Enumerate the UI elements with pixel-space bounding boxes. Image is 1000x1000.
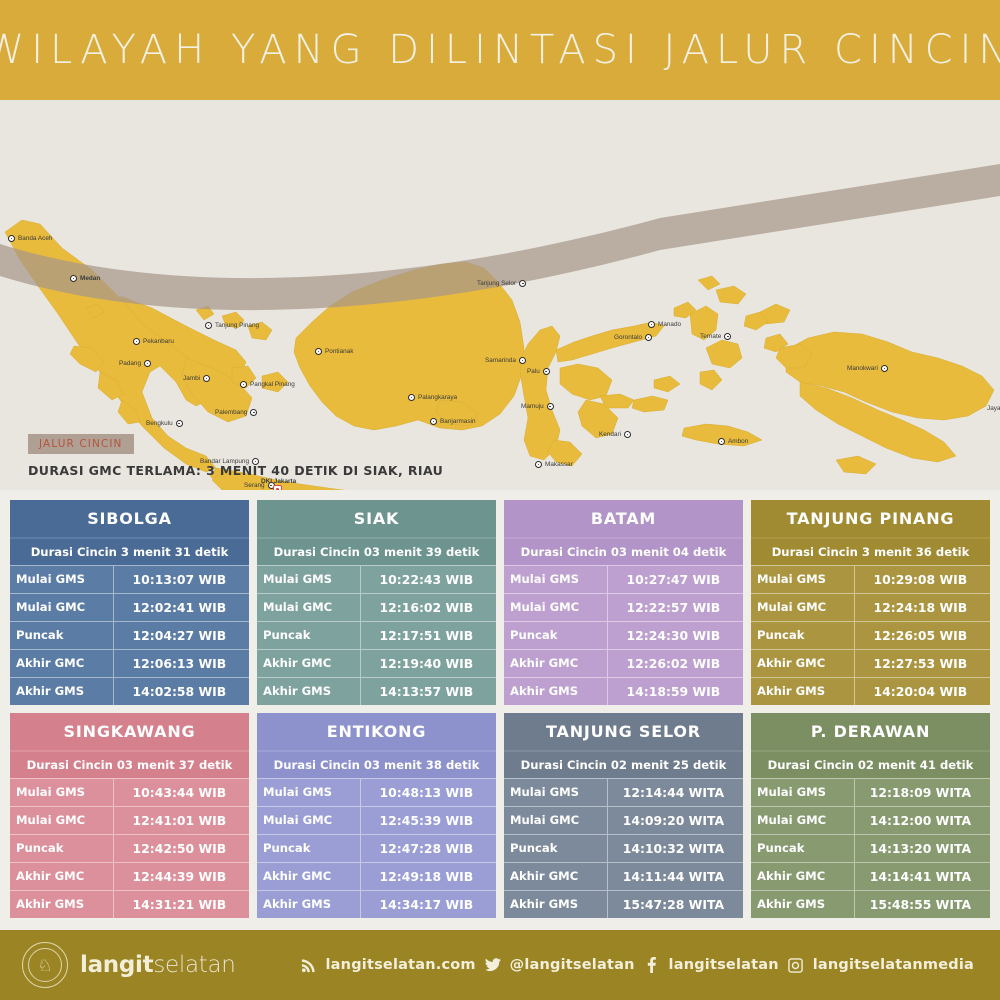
map-city-marker: Manado bbox=[648, 321, 681, 328]
city-label: Pangkal Pinang bbox=[250, 381, 295, 388]
card-row-label: Mulai GMS bbox=[504, 566, 607, 593]
card-row-label: Mulai GMS bbox=[10, 779, 113, 806]
map-city-marker: Banjarmasin bbox=[430, 418, 476, 425]
twitter-icon bbox=[484, 956, 502, 974]
social-label: langitselatan bbox=[669, 957, 779, 973]
card-row-label: Akhir GMC bbox=[10, 650, 113, 677]
card-row-time: 12:47:28 WIB bbox=[360, 835, 496, 862]
city-label: Pontianak bbox=[325, 348, 353, 355]
timing-card: TANJUNG SELORDurasi Cincin 02 menit 25 d… bbox=[504, 713, 743, 918]
city-label: Kendari bbox=[599, 431, 621, 438]
card-row-label: Mulai GMC bbox=[504, 807, 607, 834]
card-row-time: 14:18:59 WIB bbox=[607, 678, 743, 705]
card-duration: Durasi Cincin 03 menit 39 detik bbox=[257, 537, 496, 565]
city-dot-icon bbox=[547, 403, 554, 410]
card-row-time: 14:31:21 WIB bbox=[113, 891, 249, 918]
brand-bold-text: langit bbox=[80, 952, 153, 978]
timing-card: SIBOLGADurasi Cincin 3 menit 31 detikMul… bbox=[10, 500, 249, 705]
card-row: Akhir GMS14:18:59 WIB bbox=[504, 677, 743, 705]
city-dot-icon bbox=[881, 365, 888, 372]
facebook-icon bbox=[643, 956, 661, 974]
map-city-marker: Pangkal Pinang bbox=[240, 381, 295, 388]
card-row-label: Akhir GMS bbox=[10, 891, 113, 918]
card-row: Akhir GMS15:48:55 WITA bbox=[751, 890, 990, 918]
card-row-time: 14:09:20 WITA bbox=[607, 807, 743, 834]
city-label: DKI Jakarta bbox=[261, 478, 296, 485]
card-row: Puncak14:10:32 WITA bbox=[504, 834, 743, 862]
map-city-marker: Jambi bbox=[183, 375, 210, 382]
card-row-time: 14:14:41 WITA bbox=[854, 863, 990, 890]
map-caption: DURASI GMC TERLAMA: 3 MENIT 40 DETIK DI … bbox=[28, 463, 443, 478]
card-row-time: 12:18:09 WITA bbox=[854, 779, 990, 806]
seal-inner-emblem: ♘ bbox=[28, 948, 62, 982]
card-duration: Durasi Cincin 3 menit 36 detik bbox=[751, 537, 990, 565]
card-row: Puncak12:26:05 WIB bbox=[751, 621, 990, 649]
map-city-marker: Padang bbox=[119, 360, 151, 367]
card-row-time: 10:48:13 WIB bbox=[360, 779, 496, 806]
card-row: Akhir GMC12:26:02 WIB bbox=[504, 649, 743, 677]
card-title: TANJUNG PINANG bbox=[751, 500, 990, 537]
card-title: SIBOLGA bbox=[10, 500, 249, 537]
card-row: Mulai GMS10:43:44 WIB bbox=[10, 778, 249, 806]
social-link[interactable]: langitselatan bbox=[643, 956, 779, 974]
card-row: Akhir GMS14:13:57 WIB bbox=[257, 677, 496, 705]
card-row-label: Puncak bbox=[504, 622, 607, 649]
city-dot-icon bbox=[176, 420, 183, 427]
timing-card: SIAKDurasi Cincin 03 menit 39 detikMulai… bbox=[257, 500, 496, 705]
card-row-label: Puncak bbox=[10, 835, 113, 862]
city-label: Tanjung Selor bbox=[477, 280, 516, 287]
map-panel: Banda AcehMedanTanjung PinangPekanbaruPa… bbox=[0, 100, 1000, 490]
card-row: Mulai GMS10:22:43 WIB bbox=[257, 565, 496, 593]
city-label: Mamuju bbox=[521, 403, 544, 410]
card-row: Mulai GMC14:09:20 WITA bbox=[504, 806, 743, 834]
city-label: Palangkaraya bbox=[418, 394, 457, 401]
card-row-time: 12:04:27 WIB bbox=[113, 622, 249, 649]
map-city-marker: Gorontalo bbox=[614, 334, 652, 341]
card-row: Puncak14:13:20 WITA bbox=[751, 834, 990, 862]
card-row: Mulai GMC12:41:01 WIB bbox=[10, 806, 249, 834]
map-city-marker: Palangkaraya bbox=[408, 394, 457, 401]
card-row-time: 12:26:05 WIB bbox=[854, 622, 990, 649]
map-city-marker: Medan bbox=[70, 275, 100, 282]
card-row: Puncak12:42:50 WIB bbox=[10, 834, 249, 862]
card-row-time: 12:49:18 WIB bbox=[360, 863, 496, 890]
city-label: Manado bbox=[658, 321, 681, 328]
card-duration: Durasi Cincin 02 menit 25 detik bbox=[504, 750, 743, 778]
card-row-time: 12:44:39 WIB bbox=[113, 863, 249, 890]
card-row: Akhir GMC12:49:18 WIB bbox=[257, 862, 496, 890]
city-dot-icon bbox=[648, 321, 655, 328]
card-row: Mulai GMC14:12:00 WITA bbox=[751, 806, 990, 834]
card-row-time: 15:47:28 WITA bbox=[607, 891, 743, 918]
city-label: Ambon bbox=[728, 438, 748, 445]
card-duration: Durasi Cincin 3 menit 31 detik bbox=[10, 537, 249, 565]
card-row-label: Mulai GMC bbox=[10, 594, 113, 621]
card-row: Mulai GMS10:27:47 WIB bbox=[504, 565, 743, 593]
indonesia-map bbox=[0, 100, 1000, 490]
langitselatan-seal-icon: ♘ bbox=[22, 942, 68, 988]
card-row-time: 12:27:53 WIB bbox=[854, 650, 990, 677]
city-timing-cards: SIBOLGADurasi Cincin 3 menit 31 detikMul… bbox=[0, 490, 1000, 918]
card-row-label: Akhir GMS bbox=[257, 678, 360, 705]
social-label: langitselatan.com bbox=[326, 957, 476, 973]
card-row-label: Mulai GMS bbox=[751, 779, 854, 806]
card-row-label: Mulai GMC bbox=[751, 807, 854, 834]
map-city-marker: Samarinda bbox=[485, 357, 526, 364]
card-row-label: Puncak bbox=[504, 835, 607, 862]
timing-card: BATAMDurasi Cincin 03 menit 04 detikMula… bbox=[504, 500, 743, 705]
card-row: Akhir GMC12:27:53 WIB bbox=[751, 649, 990, 677]
card-row-time: 10:27:47 WIB bbox=[607, 566, 743, 593]
city-label: Tanjung Pinang bbox=[215, 322, 259, 329]
map-city-marker: Palu bbox=[527, 368, 550, 375]
card-row: Mulai GMC12:45:39 WIB bbox=[257, 806, 496, 834]
card-row: Akhir GMC12:19:40 WIB bbox=[257, 649, 496, 677]
card-title: SIAK bbox=[257, 500, 496, 537]
card-row-label: Akhir GMC bbox=[504, 863, 607, 890]
card-row-label: Akhir GMC bbox=[751, 650, 854, 677]
card-row: Akhir GMC14:14:41 WITA bbox=[751, 862, 990, 890]
city-label: Padang bbox=[119, 360, 141, 367]
timing-card: SINGKAWANGDurasi Cincin 03 menit 37 deti… bbox=[10, 713, 249, 918]
card-row-label: Mulai GMC bbox=[257, 594, 360, 621]
card-row-label: Mulai GMC bbox=[257, 807, 360, 834]
city-label: Palembang bbox=[215, 409, 247, 416]
card-duration: Durasi Cincin 03 menit 38 detik bbox=[257, 750, 496, 778]
card-row-time: 10:22:43 WIB bbox=[360, 566, 496, 593]
rss-icon bbox=[300, 956, 318, 974]
card-row-time: 12:06:13 WIB bbox=[113, 650, 249, 677]
city-dot-icon bbox=[205, 322, 212, 329]
card-row-time: 15:48:55 WITA bbox=[854, 891, 990, 918]
map-city-marker: Tanjung Selor bbox=[477, 280, 526, 287]
city-dot-icon bbox=[203, 375, 210, 382]
card-row-time: 12:42:50 WIB bbox=[113, 835, 249, 862]
city-label: Jambi bbox=[183, 375, 200, 382]
legend-jalur-cincin: JALUR CINCIN bbox=[28, 434, 134, 454]
card-row-label: Puncak bbox=[10, 622, 113, 649]
map-city-marker: DKI Jakarta bbox=[258, 478, 296, 490]
city-label: Banjarmasin bbox=[440, 418, 476, 425]
social-label: @langitselatan bbox=[510, 957, 635, 973]
city-dot-icon bbox=[519, 280, 526, 287]
card-row-time: 12:24:18 WIB bbox=[854, 594, 990, 621]
card-row: Mulai GMC12:02:41 WIB bbox=[10, 593, 249, 621]
city-label: Jayapura bbox=[987, 405, 1000, 412]
card-row-time: 14:13:57 WIB bbox=[360, 678, 496, 705]
card-row-label: Mulai GMS bbox=[257, 566, 360, 593]
card-title: BATAM bbox=[504, 500, 743, 537]
card-row-label: Puncak bbox=[257, 622, 360, 649]
card-row: Mulai GMC12:16:02 WIB bbox=[257, 593, 496, 621]
card-row-time: 12:02:41 WIB bbox=[113, 594, 249, 621]
city-label: Bengkulu bbox=[146, 420, 173, 427]
card-row-label: Akhir GMS bbox=[504, 891, 607, 918]
card-row: Mulai GMC12:24:18 WIB bbox=[751, 593, 990, 621]
card-row-time: 12:41:01 WIB bbox=[113, 807, 249, 834]
city-dot-icon bbox=[645, 334, 652, 341]
card-row-label: Puncak bbox=[751, 835, 854, 862]
card-row: Puncak12:04:27 WIB bbox=[10, 621, 249, 649]
city-dot-icon bbox=[543, 368, 550, 375]
card-row-time: 10:43:44 WIB bbox=[113, 779, 249, 806]
card-row-time: 12:16:02 WIB bbox=[360, 594, 496, 621]
card-row: Akhir GMC14:11:44 WITA bbox=[504, 862, 743, 890]
card-duration: Durasi Cincin 02 menit 41 detik bbox=[751, 750, 990, 778]
city-label: Palu bbox=[527, 368, 540, 375]
card-row-time: 14:20:04 WIB bbox=[854, 678, 990, 705]
card-row: Mulai GMS12:18:09 WITA bbox=[751, 778, 990, 806]
card-row-time: 12:22:57 WIB bbox=[607, 594, 743, 621]
card-row: Akhir GMC12:06:13 WIB bbox=[10, 649, 249, 677]
social-link[interactable]: @langitselatan bbox=[484, 956, 635, 974]
map-city-marker: Kendari bbox=[599, 431, 631, 438]
card-title: TANJUNG SELOR bbox=[504, 713, 743, 750]
city-dot-icon bbox=[519, 357, 526, 364]
social-link[interactable]: langitselatan.com bbox=[300, 956, 476, 974]
map-legend: JALUR CINCIN DURASI GMC TERLAMA: 3 MENIT… bbox=[28, 434, 443, 478]
social-label: langitselatanmedia bbox=[813, 957, 974, 973]
city-label: Ternate bbox=[700, 333, 721, 340]
card-row-label: Akhir GMS bbox=[504, 678, 607, 705]
city-dot-icon bbox=[144, 360, 151, 367]
city-label: Samarinda bbox=[485, 357, 516, 364]
card-row: Akhir GMS14:20:04 WIB bbox=[751, 677, 990, 705]
map-city-marker: Jayapura bbox=[987, 405, 1000, 412]
card-row: Mulai GMC12:22:57 WIB bbox=[504, 593, 743, 621]
map-city-marker: Bengkulu bbox=[146, 420, 183, 427]
card-title: ENTIKONG bbox=[257, 713, 496, 750]
title-bar: WILAYAH YANG DILINTASI JALUR CINCIN bbox=[0, 0, 1000, 100]
city-label: Gorontalo bbox=[614, 334, 642, 341]
social-links: langitselatan.com@langitselatanlangitsel… bbox=[236, 956, 978, 974]
city-label: Manokwari bbox=[847, 365, 878, 372]
social-link[interactable]: langitselatanmedia bbox=[787, 956, 974, 974]
city-label: Makassar bbox=[545, 461, 573, 468]
city-dot-icon bbox=[724, 333, 731, 340]
card-row: Mulai GMS10:48:13 WIB bbox=[257, 778, 496, 806]
card-title: SINGKAWANG bbox=[10, 713, 249, 750]
card-row-time: 12:17:51 WIB bbox=[360, 622, 496, 649]
card-duration: Durasi Cincin 03 menit 37 detik bbox=[10, 750, 249, 778]
card-row-label: Akhir GMC bbox=[257, 863, 360, 890]
card-row-time: 14:12:00 WITA bbox=[854, 807, 990, 834]
instagram-icon bbox=[787, 956, 805, 974]
card-row-time: 14:10:32 WITA bbox=[607, 835, 743, 862]
card-row-time: 12:45:39 WIB bbox=[360, 807, 496, 834]
city-dot-icon bbox=[624, 431, 631, 438]
card-row-label: Puncak bbox=[751, 622, 854, 649]
card-row: Akhir GMC12:44:39 WIB bbox=[10, 862, 249, 890]
card-row-label: Akhir GMS bbox=[751, 891, 854, 918]
footer: ♘ langitselatan langitselatan.com@langit… bbox=[0, 930, 1000, 1000]
card-row-label: Akhir GMS bbox=[751, 678, 854, 705]
city-dot-icon bbox=[408, 394, 415, 401]
card-row-label: Akhir GMS bbox=[10, 678, 113, 705]
map-city-marker: Pekanbaru bbox=[133, 338, 174, 345]
card-row-label: Akhir GMC bbox=[751, 863, 854, 890]
city-label: Banda Aceh bbox=[18, 235, 52, 242]
card-row: Mulai GMS12:14:44 WITA bbox=[504, 778, 743, 806]
card-row-time: 12:24:30 WIB bbox=[607, 622, 743, 649]
card-row-time: 10:29:08 WIB bbox=[854, 566, 990, 593]
map-city-marker: Makassar bbox=[535, 461, 573, 468]
card-row-label: Mulai GMS bbox=[751, 566, 854, 593]
card-row: Akhir GMS14:31:21 WIB bbox=[10, 890, 249, 918]
city-dot-icon bbox=[8, 235, 15, 242]
card-row-label: Mulai GMC bbox=[504, 594, 607, 621]
map-city-marker: Ternate bbox=[700, 333, 731, 340]
card-title: P. DERAWAN bbox=[751, 713, 990, 750]
card-row: Mulai GMS10:29:08 WIB bbox=[751, 565, 990, 593]
timing-card: P. DERAWANDurasi Cincin 02 menit 41 deti… bbox=[751, 713, 990, 918]
page-title: WILAYAH YANG DILINTASI JALUR CINCIN bbox=[0, 27, 1000, 73]
card-row-label: Mulai GMC bbox=[751, 594, 854, 621]
card-row-time: 10:13:07 WIB bbox=[113, 566, 249, 593]
card-row-time: 14:02:58 WIB bbox=[113, 678, 249, 705]
card-row-label: Mulai GMC bbox=[10, 807, 113, 834]
map-city-marker: Manokwari bbox=[847, 365, 888, 372]
card-row: Puncak12:17:51 WIB bbox=[257, 621, 496, 649]
card-row-time: 14:11:44 WITA bbox=[607, 863, 743, 890]
city-dot-icon bbox=[250, 409, 257, 416]
card-row-label: Puncak bbox=[257, 835, 360, 862]
city-dot-icon bbox=[240, 381, 247, 388]
card-row: Akhir GMS14:34:17 WIB bbox=[257, 890, 496, 918]
card-row-label: Akhir GMC bbox=[10, 863, 113, 890]
brand-wordmark: langitselatan bbox=[80, 952, 236, 978]
map-city-marker: Pontianak bbox=[315, 348, 353, 355]
city-label: Medan bbox=[80, 275, 100, 282]
city-dot-icon bbox=[70, 275, 77, 282]
map-city-marker: Mamuju bbox=[521, 403, 554, 410]
city-label: Pekanbaru bbox=[143, 338, 174, 345]
capital-marker-icon bbox=[273, 485, 282, 490]
city-dot-icon bbox=[718, 438, 725, 445]
card-row: Akhir GMS15:47:28 WITA bbox=[504, 890, 743, 918]
city-dot-icon bbox=[430, 418, 437, 425]
city-dot-icon bbox=[133, 338, 140, 345]
card-row-label: Akhir GMC bbox=[257, 650, 360, 677]
card-row: Puncak12:24:30 WIB bbox=[504, 621, 743, 649]
card-row-time: 12:19:40 WIB bbox=[360, 650, 496, 677]
card-row-time: 12:26:02 WIB bbox=[607, 650, 743, 677]
map-city-marker: Ambon bbox=[718, 438, 748, 445]
city-dot-icon bbox=[315, 348, 322, 355]
map-city-marker: Tanjung Pinang bbox=[205, 322, 259, 329]
card-row: Akhir GMS14:02:58 WIB bbox=[10, 677, 249, 705]
card-row-label: Akhir GMS bbox=[257, 891, 360, 918]
timing-card: TANJUNG PINANGDurasi Cincin 3 menit 36 d… bbox=[751, 500, 990, 705]
card-row-time: 14:34:17 WIB bbox=[360, 891, 496, 918]
card-row-label: Mulai GMS bbox=[257, 779, 360, 806]
card-row: Puncak12:47:28 WIB bbox=[257, 834, 496, 862]
card-row-label: Mulai GMS bbox=[504, 779, 607, 806]
map-city-marker: Banda Aceh bbox=[8, 235, 52, 242]
brand-logo: ♘ langitselatan bbox=[22, 942, 236, 988]
timing-card: ENTIKONGDurasi Cincin 03 menit 38 detikM… bbox=[257, 713, 496, 918]
map-city-marker: Palembang bbox=[215, 409, 257, 416]
brand-light-text: selatan bbox=[153, 952, 235, 978]
card-row-time: 14:13:20 WITA bbox=[854, 835, 990, 862]
card-row-time: 12:14:44 WITA bbox=[607, 779, 743, 806]
card-row: Mulai GMS10:13:07 WIB bbox=[10, 565, 249, 593]
card-row-label: Akhir GMC bbox=[504, 650, 607, 677]
city-dot-icon bbox=[535, 461, 542, 468]
card-row-label: Mulai GMS bbox=[10, 566, 113, 593]
card-duration: Durasi Cincin 03 menit 04 detik bbox=[504, 537, 743, 565]
